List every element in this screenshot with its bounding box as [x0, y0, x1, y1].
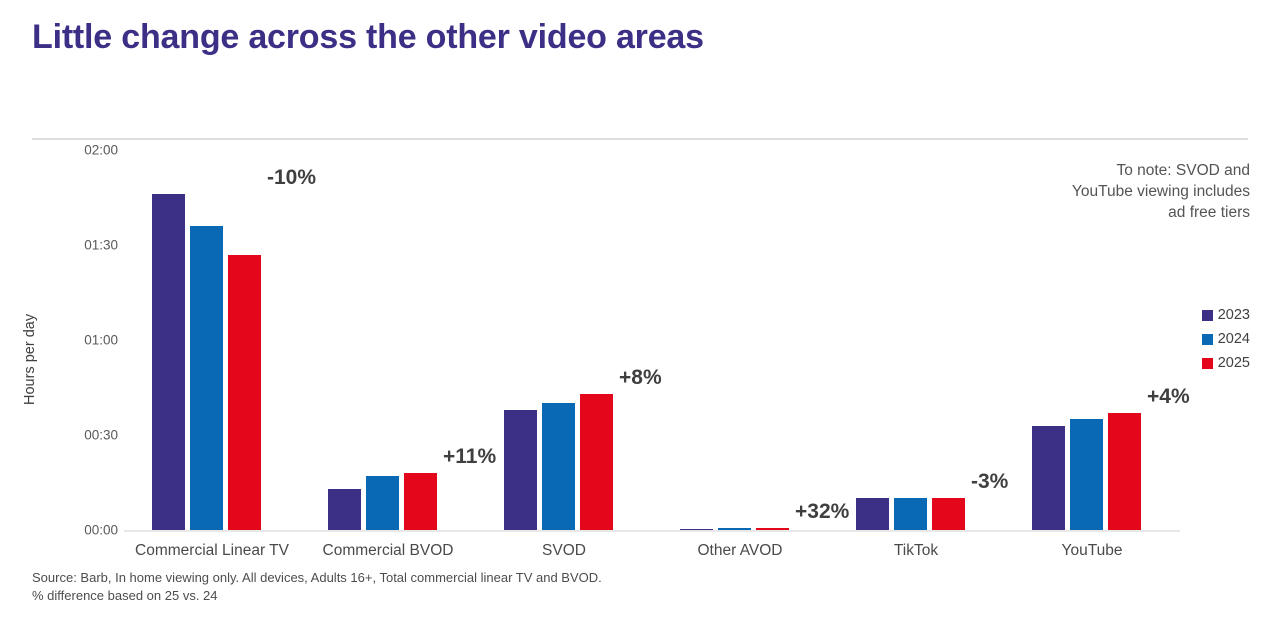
y-axis-ticks: 02:0001:3001:0000:3000:00 [60, 150, 118, 550]
x-axis-category-label: Commercial Linear TV [135, 542, 289, 560]
bar-2023 [152, 194, 185, 530]
legend-item-2025[interactable]: 2025 [1202, 351, 1250, 375]
delta-label: +4% [1147, 385, 1190, 409]
chart-note: To note: SVOD and YouTube viewing includ… [1060, 160, 1250, 223]
chart-legend: 202320242025 [1202, 303, 1250, 375]
bar-2025 [756, 528, 789, 530]
x-axis-category-label: Commercial BVOD [323, 542, 454, 560]
bar-2025 [404, 473, 437, 530]
bar-groups: -10%Commercial Linear TV+11%Commercial B… [124, 150, 1180, 532]
legend-swatch-icon [1202, 310, 1213, 321]
bar-group: -10% [124, 150, 300, 530]
legend-swatch-icon [1202, 334, 1213, 345]
bar-2024 [1070, 419, 1103, 530]
bar-group: -3% [828, 150, 1004, 530]
bar-2023 [856, 498, 889, 530]
bar-2024 [894, 498, 927, 530]
y-axis-tick-label: 01:00 [60, 333, 118, 348]
bar-group: +8% [476, 150, 652, 530]
legend-swatch-icon [1202, 358, 1213, 369]
bar-2025 [228, 255, 261, 531]
x-axis-category-label: TikTok [894, 542, 938, 560]
y-axis-tick-label: 02:00 [60, 143, 118, 158]
x-axis-category-label: SVOD [542, 542, 586, 560]
bar-2023 [328, 489, 361, 530]
y-axis-title: Hours per day [22, 314, 38, 405]
legend-label: 2024 [1218, 331, 1250, 347]
bar-2024 [366, 476, 399, 530]
bar-group: +32% [652, 150, 828, 530]
bar-2024 [542, 403, 575, 530]
bar-2025 [932, 498, 965, 530]
x-axis-category-label: Other AVOD [698, 542, 783, 560]
footnote: Source: Barb, In home viewing only. All … [32, 569, 602, 605]
bar-2025 [1108, 413, 1141, 530]
legend-item-2023[interactable]: 2023 [1202, 303, 1250, 327]
y-axis-tick-label: 00:00 [60, 523, 118, 538]
bar-2024 [190, 226, 223, 530]
legend-label: 2025 [1218, 355, 1250, 371]
bar-2023 [504, 410, 537, 530]
footnote-line-1: Source: Barb, In home viewing only. All … [32, 569, 602, 587]
x-axis-category-label: YouTube [1062, 542, 1123, 560]
delta-label: -3% [971, 470, 1008, 494]
page-title: Little change across the other video are… [32, 18, 704, 57]
legend-item-2024[interactable]: 2024 [1202, 327, 1250, 351]
footnote-line-2: % difference based on 25 vs. 24 [32, 587, 602, 605]
bar-2023 [680, 529, 713, 531]
bar-2023 [1032, 426, 1065, 531]
legend-label: 2023 [1218, 307, 1250, 323]
bar-2025 [580, 394, 613, 530]
y-axis-tick-label: 00:30 [60, 428, 118, 443]
y-axis-tick-label: 01:30 [60, 238, 118, 253]
header-divider [32, 138, 1248, 140]
bar-2024 [718, 528, 751, 530]
bar-group: +11% [300, 150, 476, 530]
